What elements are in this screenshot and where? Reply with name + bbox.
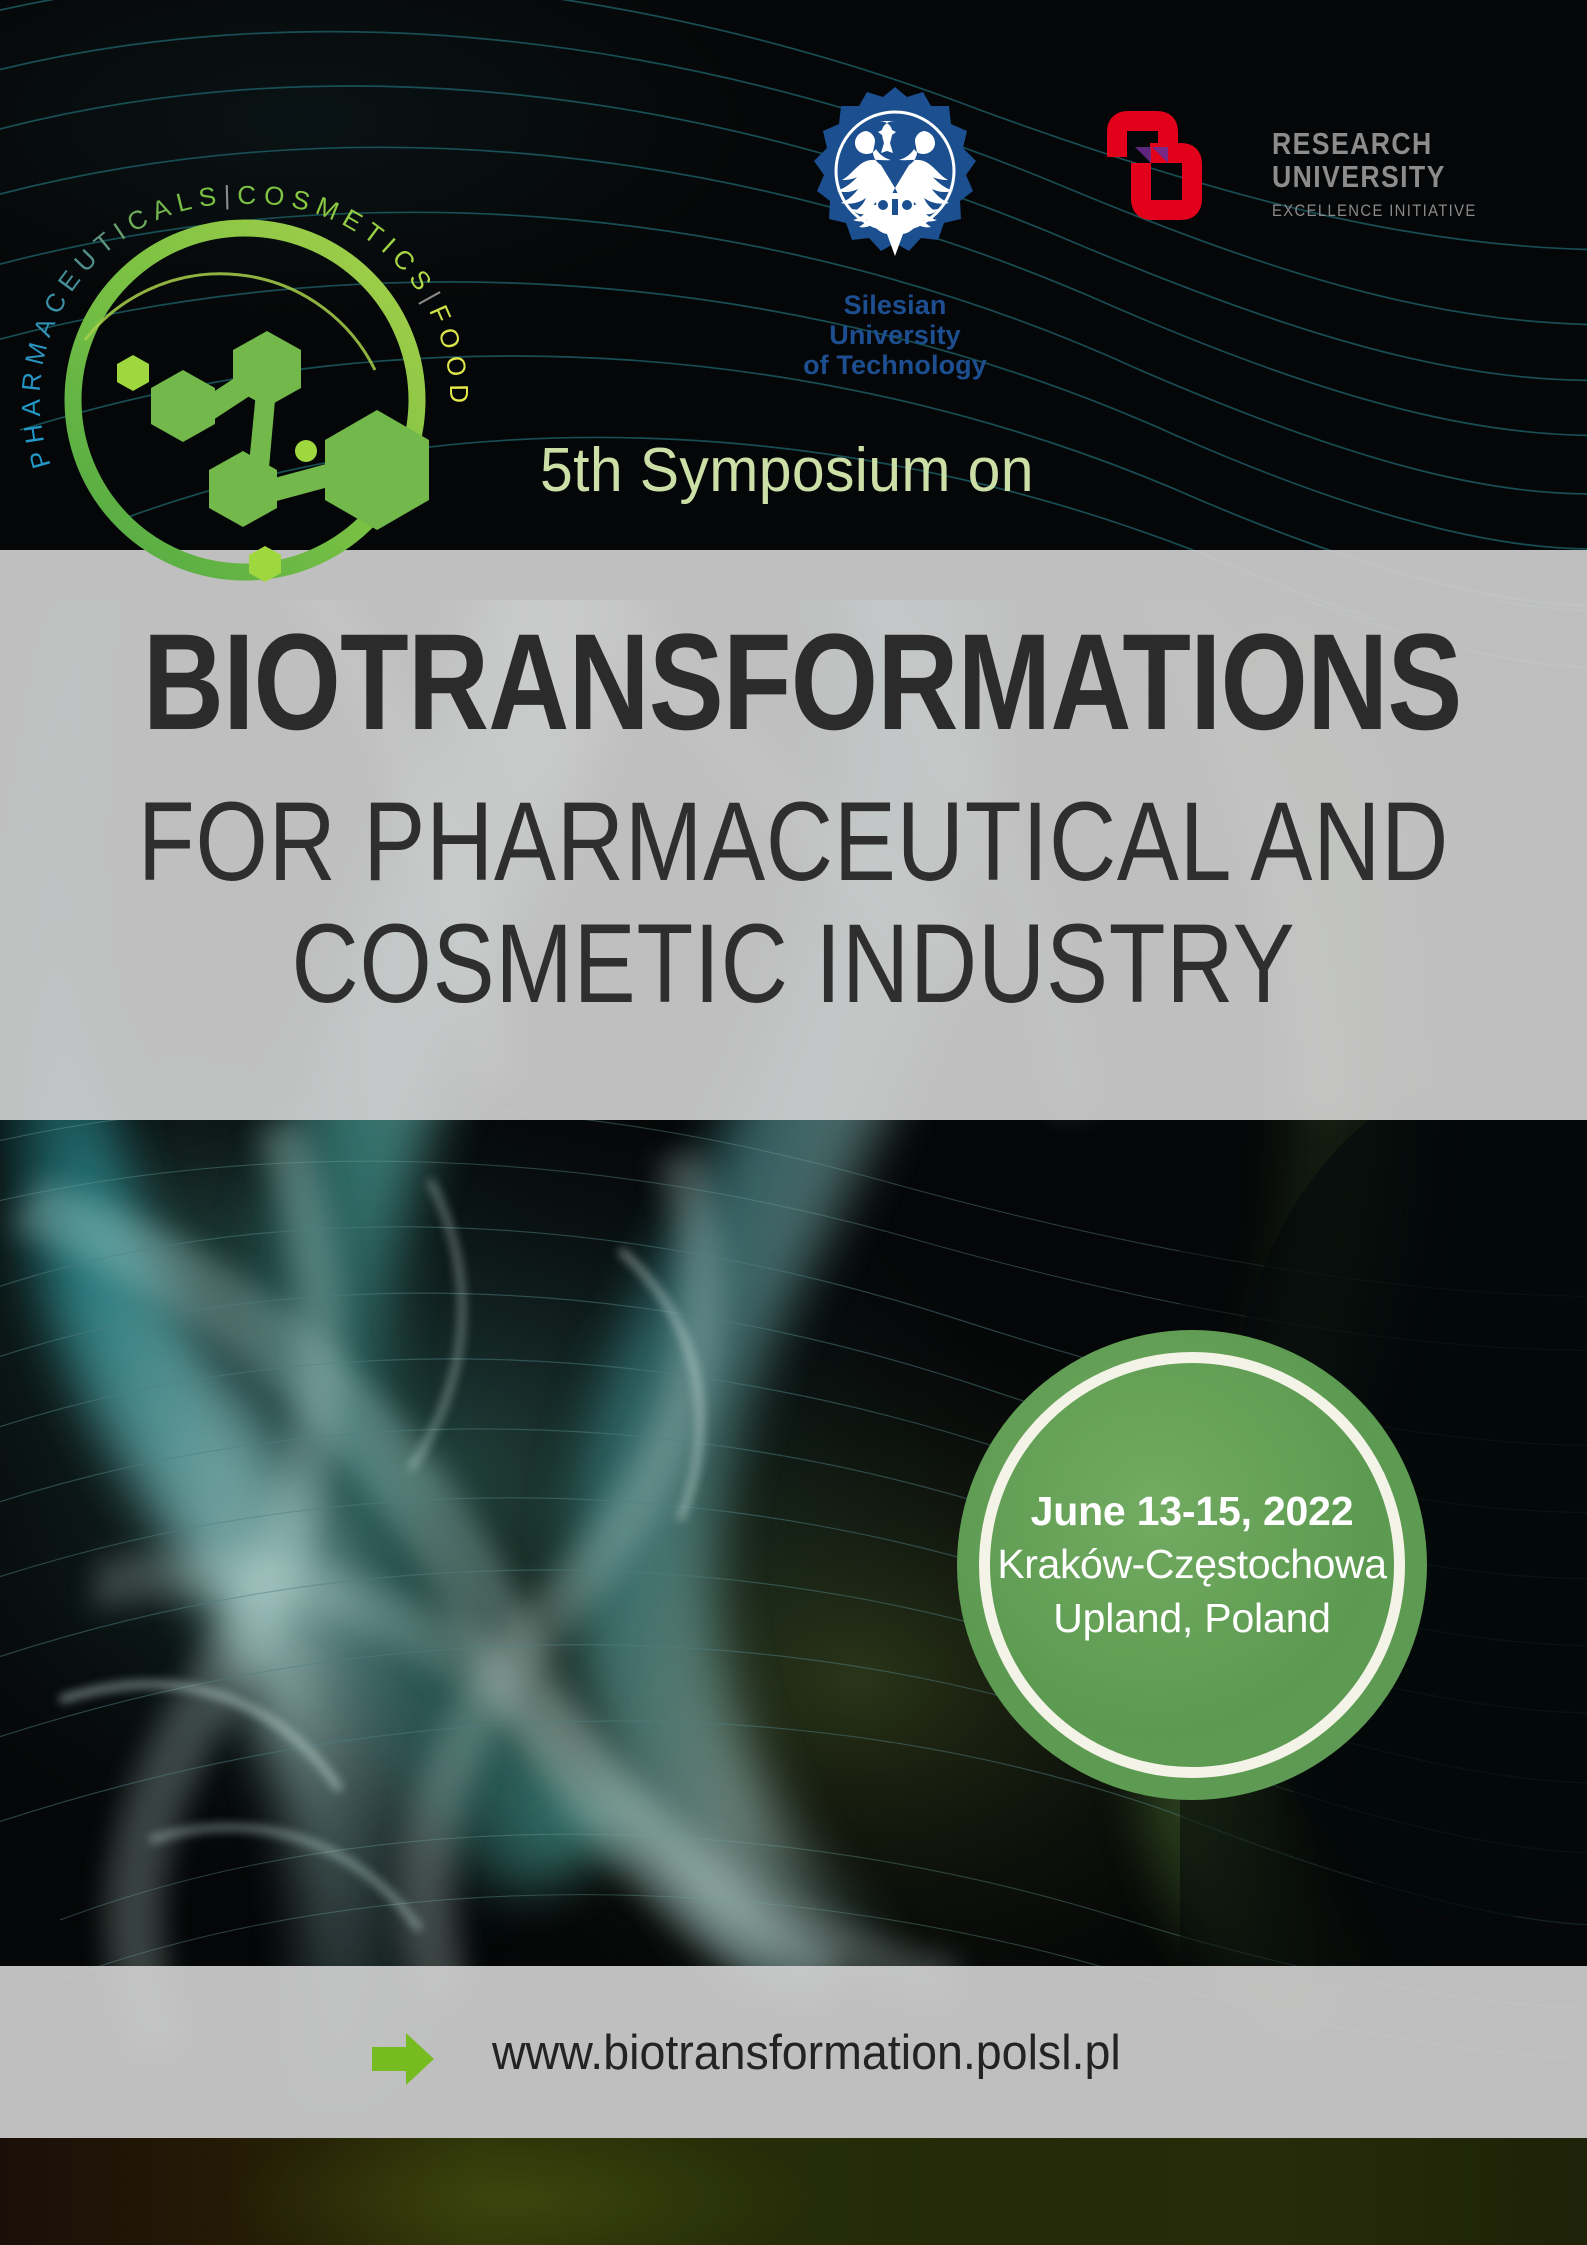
silesian-university-caption: Silesian University of Technology — [770, 290, 1020, 381]
research-university-mark-icon — [1095, 95, 1255, 235]
date-location-badge: June 13-15, 2022 Kraków-Częstochowa Upla… — [957, 1330, 1427, 1800]
sut-line-3: of Technology — [770, 350, 1020, 380]
subtitle-line-1: FOR PHARMACEUTICAL AND — [135, 786, 1452, 898]
sut-line-1: Silesian — [770, 290, 1020, 320]
website-url[interactable]: www.biotransformation.polsl.pl — [492, 2025, 1121, 2081]
conference-poster: Silesian University of Technology RESEAR… — [0, 0, 1587, 2245]
silesian-university-crest-icon — [795, 85, 995, 285]
background-bottom-strip — [0, 2138, 1587, 2245]
badge-date: June 13-15, 2022 — [957, 1485, 1427, 1538]
subtitle-line-2: COSMETIC INDUSTRY — [135, 908, 1452, 1020]
eyebrow-text: 5th Symposium on — [540, 435, 1034, 506]
arrow-right-icon — [372, 2033, 434, 2085]
badge-text: June 13-15, 2022 Kraków-Częstochowa Upla… — [957, 1485, 1427, 1645]
page-title: BIOTRANSFORMATIONS — [143, 614, 1444, 751]
ru-subtitle: EXCELLENCE INITIATIVE — [1272, 202, 1477, 221]
pharmaceuticals-cosmetics-food-logo-icon: PHARMACEUTICALS|COSMETICS|FOOD — [0, 150, 495, 650]
research-university-wordmark: RESEARCH UNIVERSITY EXCELLENCE INITIATIV… — [1272, 128, 1499, 221]
sut-line-2: University — [770, 320, 1020, 350]
badge-location-line-2: Upland, Poland — [957, 1592, 1427, 1645]
badge-location-line-1: Kraków-Częstochowa — [957, 1538, 1427, 1591]
ru-title-line-2: UNIVERSITY — [1272, 161, 1468, 194]
ru-title-line-1: RESEARCH — [1272, 128, 1468, 161]
